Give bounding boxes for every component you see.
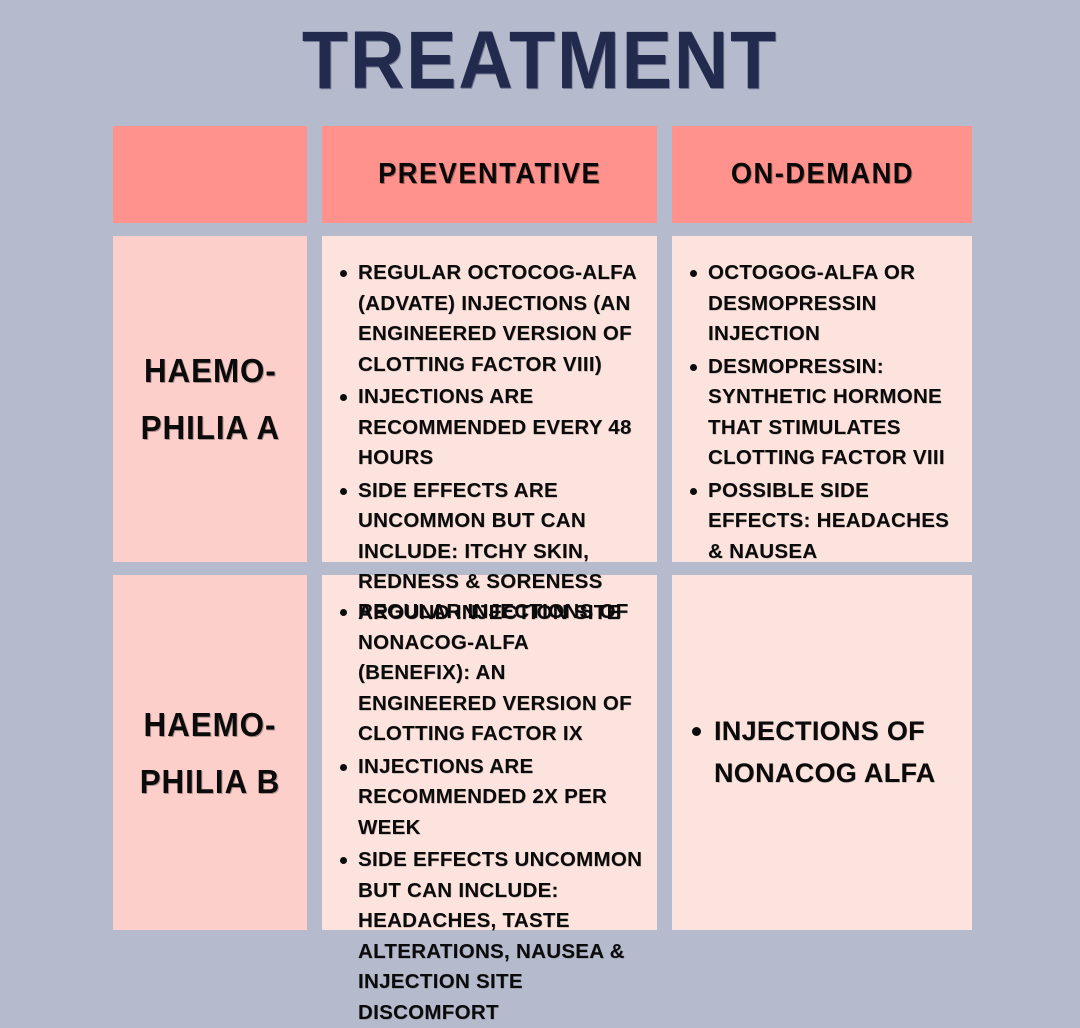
row-label-haemophilia-b-text: HAEMO- PHILIA B (140, 696, 281, 810)
bullet-list: INJECTIONS OF NONACOG ALFA (684, 710, 958, 796)
list-item: REGULAR OCTOCOG-ALFA (ADVATE) INJECTIONS… (334, 258, 643, 380)
list-item: SIDE EFFECTS UNCOMMON BUT CAN INCLUDE: H… (334, 845, 643, 1028)
list-item: DESMOPRESSIN: SYNTHETIC HORMONE THAT STI… (684, 352, 958, 474)
list-item: OCTOGOG-ALFA OR DESMOPRESSIN INJECTION (684, 258, 958, 350)
list-item: INJECTIONS ARE RECOMMENDED EVERY 48 HOUR… (334, 382, 643, 474)
treatment-infographic: TREATMENT PREVENTATIVE ON-DEMAND HAEMO- … (0, 0, 1080, 940)
page-title: TREATMENT (43, 14, 1037, 108)
list-item: INJECTIONS ARE RECOMMENDED 2X PER WEEK (334, 752, 643, 844)
row-label-line2: PHILIA B (140, 753, 281, 810)
column-header-on-demand-label: ON-DEMAND (730, 158, 913, 191)
list-item: REGULAR INJECTIONS OF NONACOG-ALFA (BENE… (334, 597, 643, 750)
table-corner-cell (113, 126, 307, 223)
table-header-row: PREVENTATIVE ON-DEMAND (113, 126, 972, 223)
bullet-list: REGULAR OCTOCOG-ALFA (ADVATE) INJECTIONS… (334, 258, 643, 628)
treatment-table: PREVENTATIVE ON-DEMAND HAEMO- PHILIA A R… (113, 126, 972, 943)
row-label-haemophilia-b: HAEMO- PHILIA B (113, 575, 307, 930)
column-header-on-demand: ON-DEMAND (672, 126, 972, 223)
row-label-haemophilia-a-text: HAEMO- PHILIA A (140, 342, 279, 456)
row-label-line1: HAEMO- (140, 696, 281, 753)
cell-haemophilia-a-on-demand: OCTOGOG-ALFA OR DESMOPRESSIN INJECTION D… (672, 236, 972, 562)
bullet-list: REGULAR INJECTIONS OF NONACOG-ALFA (BENE… (334, 597, 643, 1028)
column-header-preventative-label: PREVENTATIVE (378, 158, 601, 191)
bullet-list: OCTOGOG-ALFA OR DESMOPRESSIN INJECTION D… (684, 258, 958, 567)
row-label-haemophilia-a: HAEMO- PHILIA A (113, 236, 307, 562)
row-label-line2: PHILIA A (140, 399, 279, 456)
cell-haemophilia-b-preventative: REGULAR INJECTIONS OF NONACOG-ALFA (BENE… (322, 575, 657, 930)
cell-haemophilia-b-on-demand: INJECTIONS OF NONACOG ALFA (672, 575, 972, 930)
table-row-haemophilia-b: HAEMO- PHILIA B REGULAR INJECTIONS OF NO… (113, 575, 972, 930)
table-row-haemophilia-a: HAEMO- PHILIA A REGULAR OCTOCOG-ALFA (AD… (113, 236, 972, 562)
list-item: INJECTIONS OF NONACOG ALFA (684, 710, 958, 794)
column-header-preventative: PREVENTATIVE (322, 126, 657, 223)
cell-haemophilia-a-preventative: REGULAR OCTOCOG-ALFA (ADVATE) INJECTIONS… (322, 236, 657, 562)
row-label-line1: HAEMO- (140, 342, 279, 399)
list-item: POSSIBLE SIDE EFFECTS: HEADACHES & NAUSE… (684, 476, 958, 568)
